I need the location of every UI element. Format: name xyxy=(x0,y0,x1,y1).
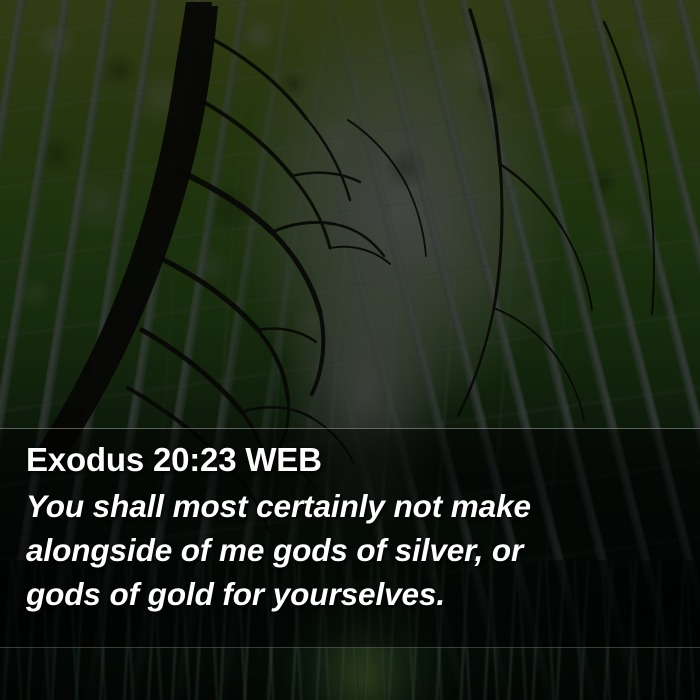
verse-body-text: You shall most certainly not make alongs… xyxy=(26,484,680,616)
verse-reference: Exodus 20:23 WEB xyxy=(26,438,680,482)
verse-text-block: Exodus 20:23 WEB You shall most certainl… xyxy=(26,438,680,616)
verse-line-3: gods of gold for yourselves. xyxy=(26,572,680,616)
verse-line-2: alongside of me gods of silver, or xyxy=(26,528,680,572)
verse-line-1: You shall most certainly not make xyxy=(26,484,680,528)
verse-image-card: Exodus 20:23 WEB You shall most certainl… xyxy=(0,0,700,700)
